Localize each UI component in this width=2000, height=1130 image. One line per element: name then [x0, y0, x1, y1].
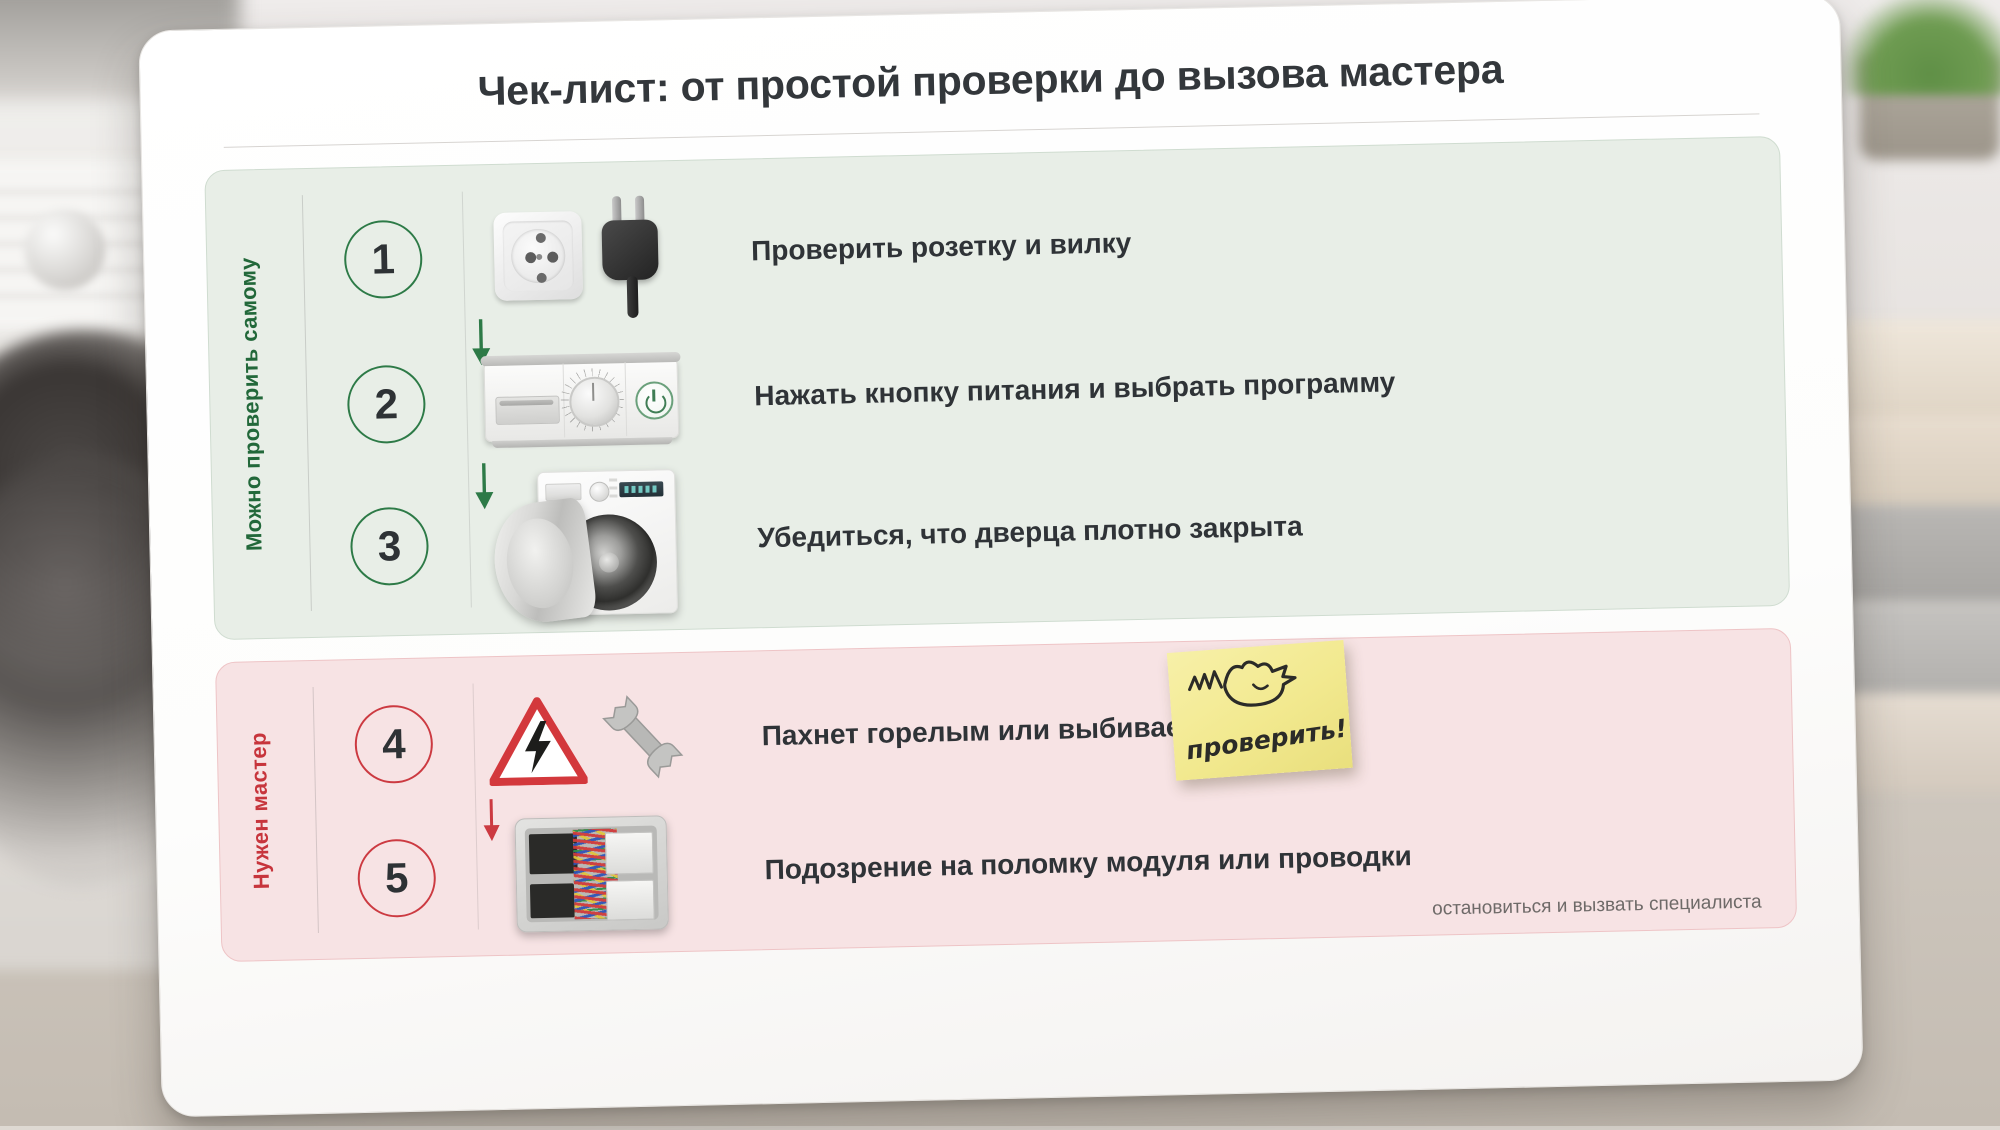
step-number-cell: 4	[313, 704, 475, 785]
module-black-component	[530, 883, 575, 918]
control-panel-icon	[466, 358, 698, 443]
background-plant-leaves	[1840, 0, 2000, 95]
hand-drawn-scribble-icon	[1181, 649, 1336, 727]
step-text: Проверить розетку и вилку	[751, 227, 1132, 267]
section-label-call-technician: Нужен мастер	[234, 662, 286, 961]
washer-open-door	[488, 496, 598, 627]
module-black-component	[529, 833, 578, 874]
power-socket-icon	[493, 211, 583, 301]
plug-body	[601, 219, 658, 280]
module-breaker	[605, 832, 654, 875]
sticky-note[interactable]: проверить!	[1167, 640, 1353, 781]
step-text: Нажать кнопку питания и выбрать программ…	[754, 366, 1396, 412]
power-button-icon	[635, 381, 674, 420]
washer-buttons	[609, 478, 618, 502]
electric-hazard-and-wrench-icon	[473, 691, 705, 789]
socket-and-plug-icon	[462, 193, 695, 318]
checklist-board: Чек-лист: от простой проверки до вызова …	[138, 0, 1863, 1117]
step-number-badge: 2	[347, 365, 427, 445]
step-row[interactable]: 3	[308, 442, 1789, 622]
step-number-badge: 1	[343, 220, 423, 300]
step-number-badge: 3	[350, 506, 430, 586]
step-text: Убедиться, что дверца плотно закрыта	[757, 510, 1303, 554]
background-washing-machine-knob	[25, 210, 105, 290]
panel-bottom-edge	[492, 437, 672, 448]
step-number-cell: 2	[306, 364, 468, 445]
washing-machine-open-door-icon	[468, 469, 701, 616]
washer-control-panel	[484, 358, 680, 442]
power-plug-icon	[595, 193, 664, 314]
electrical-junction-box	[514, 815, 668, 932]
junction-box-interior	[525, 826, 659, 923]
panel-top-edge	[480, 352, 680, 366]
step-number-badge: 5	[357, 838, 437, 918]
module-breaker	[606, 880, 655, 921]
electric-hazard-triangle-icon	[488, 696, 588, 786]
section-label-text: Можно проверить самому	[235, 257, 267, 551]
checklist-board-wrapper: Чек-лист: от простой проверки до вызова …	[138, 0, 1862, 1130]
washer-door-glass	[502, 515, 579, 613]
socket-center	[536, 254, 542, 260]
step-number-cell: 5	[316, 837, 478, 918]
electrical-module-icon	[475, 814, 707, 933]
page-title: Чек-лист: от простой проверки до вызова …	[180, 39, 1801, 121]
step-number-badge: 4	[354, 704, 434, 784]
section-label-self-check: Можно проверить самому	[223, 170, 279, 639]
washing-machine-graphic	[493, 469, 676, 615]
step-number-cell: 1	[302, 219, 464, 300]
wrench-icon	[596, 691, 690, 786]
section-self-check: Можно проверить самому 1	[204, 136, 1790, 640]
section-call-technician: Нужен мастер 4	[215, 628, 1797, 962]
step-number-cell: 3	[309, 506, 471, 587]
washer-dial	[589, 482, 609, 502]
step-text: Подозрение на поломку модуля или проводк…	[764, 840, 1412, 886]
washer-display	[619, 481, 663, 497]
section-label-text: Нужен мастер	[246, 732, 275, 890]
plug-cord	[627, 276, 639, 318]
